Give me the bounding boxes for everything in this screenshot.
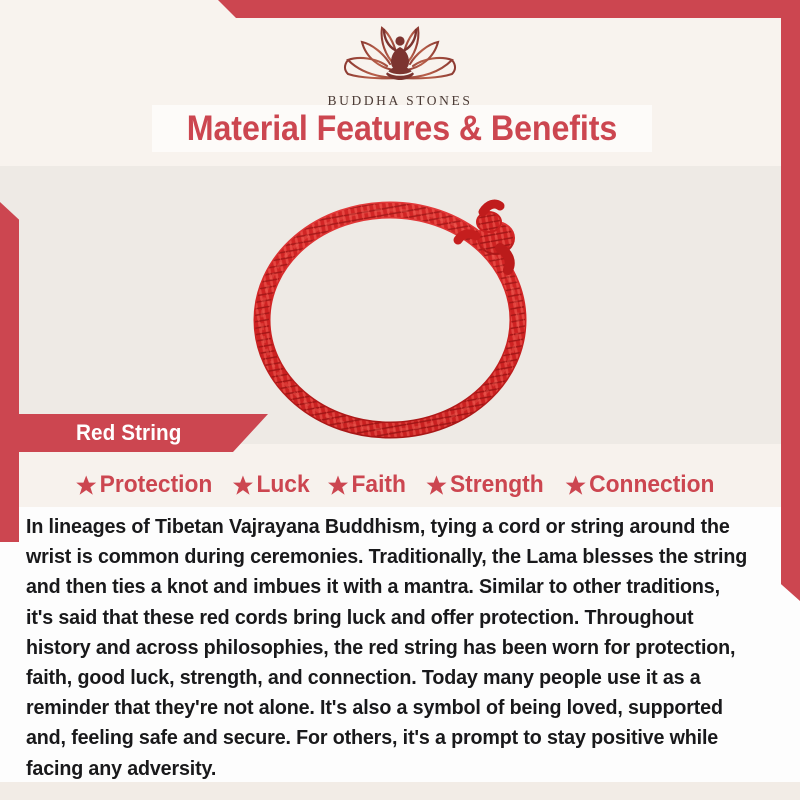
- page-title: Material Features & Benefits: [172, 104, 632, 153]
- star-icon: [75, 474, 96, 497]
- decorative-bar-left: [0, 202, 19, 542]
- benefit-label: Faith: [352, 471, 416, 499]
- benefit-item-faith: Faith: [327, 471, 415, 499]
- product-image-red-string-bracelet: [200, 170, 600, 445]
- lotus-meditation-icon: [324, 20, 476, 90]
- benefit-item-strength: Strength: [425, 471, 552, 499]
- decorative-bar-top: [215, 0, 800, 18]
- star-icon: [232, 474, 253, 497]
- infographic-page: BUDDHA STONES Material Features & Benefi…: [0, 0, 800, 800]
- benefit-item-protection: Protection: [75, 471, 221, 499]
- benefit-label: Protection: [100, 471, 222, 499]
- material-ribbon-label: Red String: [76, 420, 182, 446]
- benefit-label: Connection: [590, 471, 725, 499]
- benefit-item-connection: Connection: [565, 471, 724, 499]
- star-icon: [425, 474, 446, 497]
- benefit-item-luck: Luck: [232, 471, 319, 499]
- brand-logo: BUDDHA STONES: [0, 20, 800, 109]
- star-icon: [327, 474, 348, 497]
- material-ribbon: Red String: [18, 414, 268, 452]
- description-paragraph: In lineages of Tibetan Vajrayana Buddhis…: [26, 512, 752, 784]
- benefit-label: Luck: [256, 471, 318, 499]
- star-icon: [565, 474, 586, 497]
- background-band-bottom: [0, 782, 800, 800]
- benefit-label: Strength: [450, 471, 553, 499]
- benefits-list: Protection Luck Faith Strength Connectio…: [22, 466, 778, 504]
